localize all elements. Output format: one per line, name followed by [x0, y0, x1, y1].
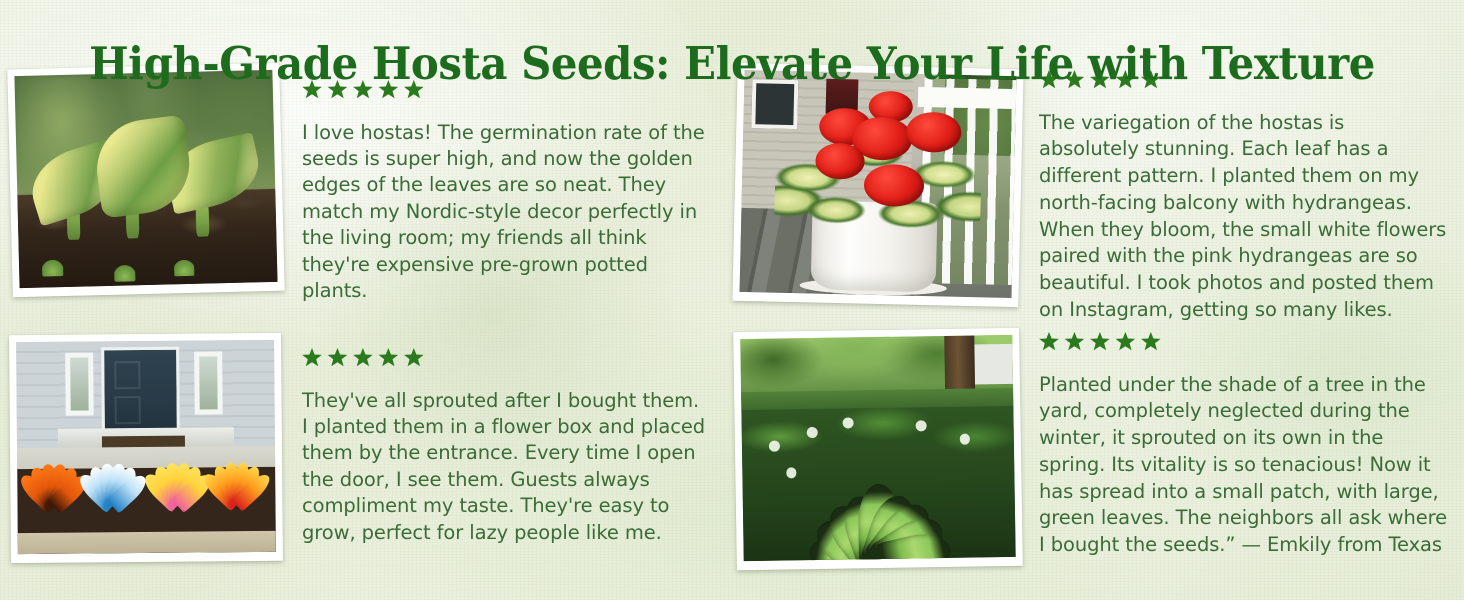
star-rating-4 [1039, 332, 1450, 352]
review-body-2: The variegation of the hostas is absolut… [1021, 62, 1450, 343]
star-icon [302, 348, 322, 367]
star-icon [1039, 332, 1059, 351]
review-card-2: The variegation of the hostas is absolut… [735, 62, 1450, 343]
star-icon [1141, 332, 1161, 351]
review-photo-frame-4 [733, 328, 1023, 570]
sprout-icon [42, 260, 63, 277]
colorful-plants-doorway-photo [16, 340, 276, 554]
star-rating-3 [302, 348, 710, 368]
sprout-icon [115, 264, 136, 281]
review-card-1: I love hostas! The germination rate of t… [10, 62, 710, 324]
potted-hosta-porch-photo [740, 70, 1017, 298]
review-banner: High-Grade Hosta Seeds: Elevate Your Lif… [0, 0, 1464, 600]
pink-yellow-plant-icon [151, 451, 203, 507]
star-icon [404, 348, 424, 367]
review-text-1: I love hostas! The germination rate of t… [302, 120, 710, 305]
sidelight-window-icon [65, 352, 94, 416]
star-icon [378, 348, 398, 367]
hosta-clump-icon [777, 433, 980, 561]
review-photo-frame-2 [732, 63, 1023, 307]
white-flower-icon [842, 417, 853, 428]
sidelight-window-icon [194, 351, 223, 415]
review-photo-frame-3 [9, 333, 283, 563]
orange-plant-icon [27, 452, 79, 508]
page-title: High-Grade Hosta Seeds: Elevate Your Lif… [51, 36, 1413, 92]
star-icon [1090, 332, 1110, 351]
review-text-2: The variegation of the hostas is absolut… [1039, 110, 1450, 324]
review-card-4: Planted under the shade of a tree in the… [735, 324, 1450, 579]
star-icon [353, 348, 373, 367]
review-photo-frame-1 [7, 63, 284, 298]
ground-edge [18, 531, 276, 554]
reviews-grid: I love hostas! The germination rate of t… [0, 62, 1464, 600]
review-text-4: Planted under the shade of a tree in the… [1039, 372, 1450, 560]
hosta-garden-bed-photo [740, 335, 1015, 561]
review-text-3: They've all sprouted after I bought them… [302, 388, 710, 546]
star-icon [327, 348, 347, 367]
red-yellow-plant-icon [213, 450, 260, 506]
review-body-4: Planted under the shade of a tree in the… [1021, 324, 1450, 579]
review-card-3: They've all sprouted after I bought them… [10, 330, 710, 565]
review-body-1: I love hostas! The germination rate of t… [282, 62, 710, 324]
neighbor-house [971, 344, 1013, 385]
star-icon [1064, 332, 1084, 351]
hosta-seedlings-photo [14, 70, 277, 288]
red-bloom-icon [816, 143, 866, 180]
review-body-3: They've all sprouted after I bought them… [282, 330, 710, 565]
blue-white-plant-icon [87, 451, 139, 507]
star-icon [1115, 332, 1135, 351]
red-bloom-icon [906, 111, 961, 152]
sprout-icon [174, 258, 195, 275]
